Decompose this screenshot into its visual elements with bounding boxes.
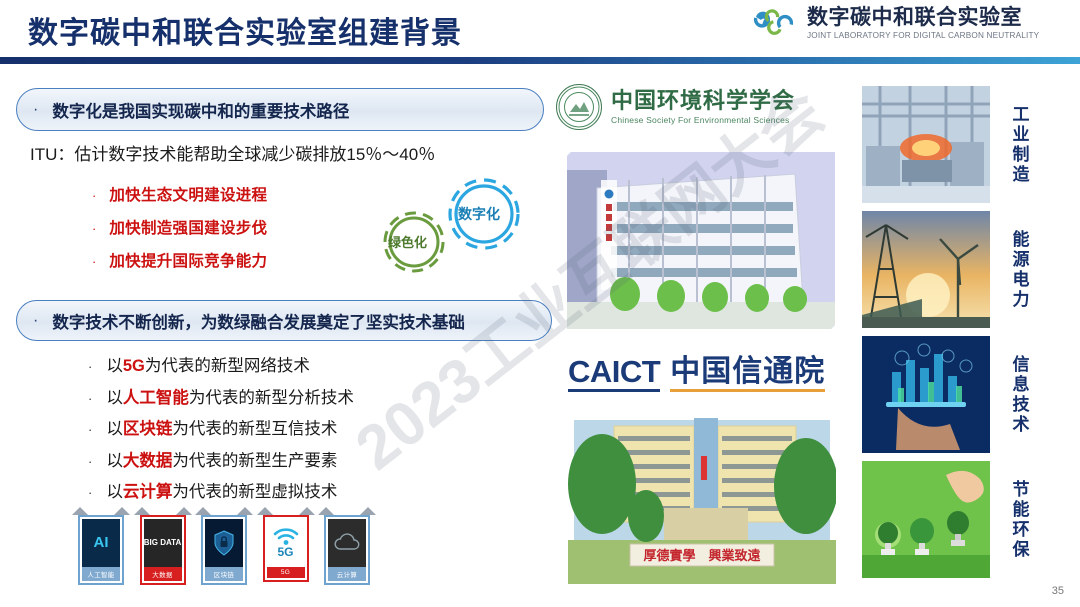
card-label: 区块链: [205, 567, 243, 581]
lab-logo-name-en: JOINT LABORATORY FOR DIGITAL CARBON NEUT…: [807, 31, 1039, 40]
lock-shield-icon: [205, 519, 243, 567]
tech-card-blockchain: 区块链: [201, 506, 247, 585]
technology-list: · 以5G为代表的新型网络技术 · 以人工智能为代表的新型分析技术 · 以区块链…: [88, 352, 354, 510]
cses-logo: 中国环境科学学会 Chinese Society For Environment…: [556, 84, 795, 130]
bullet-dot: ·: [88, 486, 92, 499]
sector-label-infotech: 信息技术: [990, 336, 1048, 453]
cses-name-en: Chinese Society For Environmental Scienc…: [611, 115, 795, 125]
bullet-dot: ·: [88, 423, 92, 436]
sector-row-industrial: 工业制造: [862, 86, 1080, 203]
tech-card-ai: AI 人工智能: [78, 506, 124, 585]
callout-bullet: ·: [33, 313, 38, 329]
list-item-label: 以人工智能为代表的新型分析技术: [106, 384, 354, 408]
cses-seal-icon: [556, 84, 602, 130]
sector-row-infotech: 信息技术: [862, 336, 1080, 453]
lab-logo: 数字碳中和联合实验室 JOINT LABORATORY FOR DIGITAL …: [752, 7, 1039, 40]
cloud-icon: [328, 519, 366, 567]
card-label: 5G: [267, 567, 305, 578]
caict-building-photo: 厚德實學 興業致遠: [568, 412, 836, 584]
callout-text: 数字化是我国实现碳中和的重要技术路径: [52, 98, 349, 122]
ai-icon: AI: [82, 519, 120, 567]
list-item-label: 以大数据为代表的新型生产要素: [106, 447, 337, 471]
page-title: 数字碳中和联合实验室组建背景: [28, 8, 462, 52]
caict-logo: CAICT 中国信通院: [568, 358, 825, 392]
gear-label-digital: 数字化: [458, 204, 500, 224]
callout-bullet: ·: [33, 102, 38, 118]
bullet-dot: ·: [92, 189, 96, 202]
energy-power-photo: [862, 211, 990, 328]
list-item: · 加快生态文明建设进程: [92, 183, 267, 205]
sector-label-industrial: 工业制造: [990, 86, 1048, 203]
technology-icon-cards: AI 人工智能 BIG DATA 大数据: [78, 506, 370, 585]
lab-logo-mark-icon: [752, 8, 798, 40]
cses-building-photo-frame: [558, 143, 844, 338]
caict-motto-text: 厚德實學 興業致遠: [643, 548, 760, 563]
title-divider-bar: [0, 57, 1080, 64]
gear-label-green: 绿色化: [388, 232, 427, 251]
sector-row-ecology: 节能环保: [862, 461, 1080, 578]
slide: 数字碳中和联合实验室组建背景 数字碳中和联合实验室 JOINT LABORATO…: [0, 0, 1080, 607]
caict-name-cn: 中国信通院: [670, 358, 825, 392]
tech-card-bigdata: BIG DATA 大数据: [140, 506, 186, 585]
sector-label-energy: 能源电力: [990, 211, 1048, 328]
energy-saving-environment-photo: [862, 461, 990, 578]
tech-card-5g: 5G 5G: [263, 506, 309, 585]
card-tab-shape: [201, 506, 247, 515]
bigdata-icon: BIG DATA: [144, 519, 182, 567]
card-label: 大数据: [144, 567, 182, 581]
sector-photo-column: 工业制造: [862, 86, 1080, 586]
card-label: 人工智能: [82, 567, 120, 581]
list-item-label: 以区块链为代表的新型互信技术: [106, 415, 337, 439]
list-item: · 以人工智能为代表的新型分析技术: [88, 384, 354, 408]
caict-name-en: CAICT: [568, 358, 660, 392]
sector-label-ecology: 节能环保: [990, 461, 1048, 578]
list-item-label: 以5G为代表的新型网络技术: [106, 352, 310, 376]
card-body: 云计算: [324, 515, 370, 585]
callout-box-innovation: · 数字技术不断创新，为数绿融合发展奠定了坚实技术基础: [16, 300, 552, 341]
list-item: · 以云计算为代表的新型虚拟技术: [88, 478, 354, 502]
wifi-5g-icon: 5G: [267, 519, 305, 567]
bullet-dot: ·: [88, 360, 92, 373]
bullet-dot: ·: [88, 392, 92, 405]
page-number: 35: [1052, 585, 1064, 597]
list-item: · 以5G为代表的新型网络技术: [88, 352, 354, 376]
tech-card-cloud: 云计算: [324, 506, 370, 585]
callout-box-digitalization: · 数字化是我国实现碳中和的重要技术路径: [16, 88, 544, 131]
gears-graphic: 绿色化 数字化: [366, 160, 546, 290]
list-item: · 加快制造强国建设步伐: [92, 216, 267, 238]
card-tab-shape: [78, 506, 124, 515]
industrial-manufacturing-photo: [862, 86, 990, 203]
card-label: 云计算: [328, 567, 366, 581]
card-body: AI 人工智能: [78, 515, 124, 585]
card-body: BIG DATA 大数据: [140, 515, 186, 585]
card-tab-shape: [324, 506, 370, 515]
card-body: 区块链: [201, 515, 247, 585]
card-body: 5G 5G: [263, 515, 309, 582]
list-item: · 以大数据为代表的新型生产要素: [88, 447, 354, 471]
list-item: · 以区块链为代表的新型互信技术: [88, 415, 354, 439]
cses-building-photo: [567, 152, 835, 329]
card-tab-shape: [140, 506, 186, 515]
list-item-label: 加快生态文明建设进程: [109, 183, 267, 205]
red-benefit-list: · 加快生态文明建设进程 · 加快制造强国建设步伐 · 加快提升国际竞争能力: [92, 183, 267, 282]
list-item-label: 加快提升国际竞争能力: [109, 249, 267, 271]
list-item: · 加快提升国际竞争能力: [92, 249, 267, 271]
list-item-label: 以云计算为代表的新型虚拟技术: [106, 478, 337, 502]
list-item-label: 加快制造强国建设步伐: [109, 216, 267, 238]
card-tab-shape: [263, 506, 309, 515]
bullet-dot: ·: [92, 255, 96, 268]
callout-text: 数字技术不断创新，为数绿融合发展奠定了坚实技术基础: [52, 309, 465, 333]
sector-row-energy: 能源电力: [862, 211, 1080, 328]
cses-name-cn: 中国环境科学学会: [611, 89, 795, 112]
lab-logo-name-cn: 数字碳中和联合实验室: [807, 7, 1039, 29]
bullet-dot: ·: [88, 455, 92, 468]
information-technology-photo: [862, 336, 990, 453]
bullet-dot: ·: [92, 222, 96, 235]
